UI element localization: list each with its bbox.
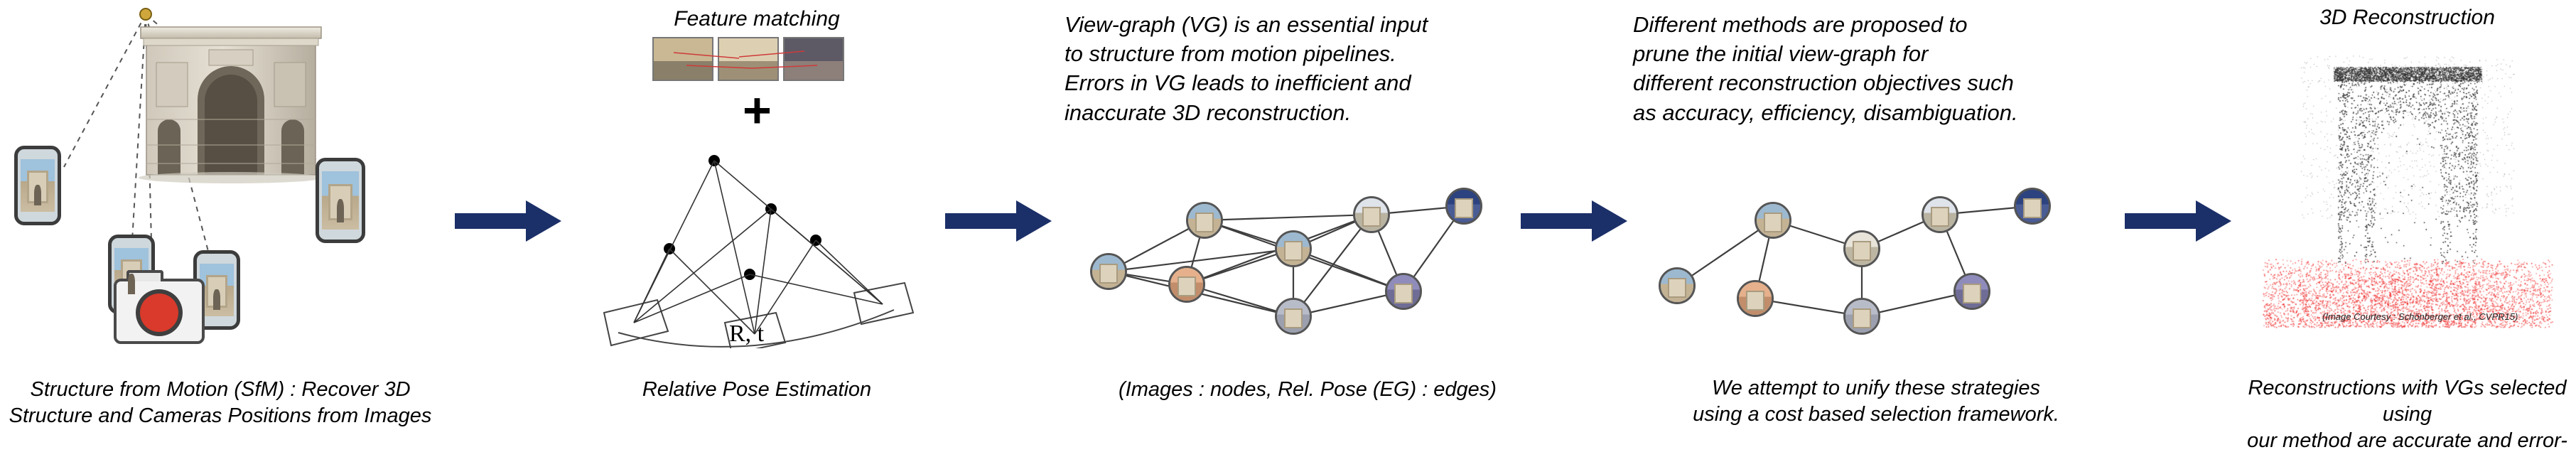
pruned-node-1 bbox=[1659, 267, 1696, 304]
feature-match-lines bbox=[652, 37, 844, 81]
title-feature-matching: Feature matching bbox=[568, 7, 945, 31]
arrow-2 bbox=[945, 193, 1052, 250]
view-graph-node-6 bbox=[1353, 196, 1390, 233]
triumphal-arch-model bbox=[114, 6, 348, 183]
image-courtesy-note: (Image Courtesy : Schönberger et al., CV… bbox=[2322, 311, 2518, 322]
pose-label: R, t bbox=[729, 321, 765, 347]
view-graph-node-3 bbox=[1168, 266, 1205, 303]
plus-symbol: + bbox=[743, 85, 772, 135]
caption-reconstruction: Reconstructions with VGs selected using … bbox=[2238, 375, 2576, 457]
panel-pruned-view-graph: Different methods are proposed to prune … bbox=[1627, 0, 2125, 457]
panel-view-graph: View-graph (VG) is an essential input to… bbox=[1059, 0, 1556, 457]
arrow-4 bbox=[2125, 193, 2231, 250]
dslr-camera-icon bbox=[114, 279, 205, 344]
arrow-3 bbox=[1521, 193, 1627, 250]
pruned-node-5 bbox=[1843, 298, 1880, 335]
phone-photo-icon-1 bbox=[14, 146, 61, 225]
pruned-node-6 bbox=[1922, 196, 1958, 233]
caption-view-graph: (Images : nodes, Rel. Pose (EG) : edges) bbox=[1059, 377, 1556, 403]
phone-photo-icon-4 bbox=[316, 158, 365, 243]
view-graph-node-8 bbox=[1445, 188, 1482, 225]
view-graph-node-5 bbox=[1275, 298, 1312, 335]
blurb-view-graph: View-graph (VG) is an essential input to… bbox=[1065, 10, 1555, 127]
pruned-node-8 bbox=[2014, 188, 2051, 225]
panel-feature-matching: Feature matching + bbox=[568, 0, 945, 457]
caption-pruned-view-graph: We attempt to unify these strategies usi… bbox=[1627, 375, 2125, 428]
arrow-1 bbox=[455, 193, 561, 250]
point-cloud-render bbox=[2238, 27, 2576, 340]
pruned-node-2 bbox=[1755, 202, 1791, 239]
caption-sfm: Structure from Motion (SfM) : Recover 3D… bbox=[0, 377, 441, 429]
view-graph-node-2 bbox=[1186, 202, 1223, 239]
blurb-pruning-methods: Different methods are proposed to prune … bbox=[1633, 10, 2123, 127]
view-graph-node-4 bbox=[1275, 230, 1312, 267]
view-graph-node-7 bbox=[1385, 273, 1422, 310]
pruned-node-4 bbox=[1843, 230, 1880, 267]
relative-pose-diagram: R, t bbox=[590, 135, 924, 348]
pruned-node-3 bbox=[1737, 280, 1774, 317]
caption-relative-pose: Relative Pose Estimation bbox=[568, 377, 945, 403]
panel-structure-from-motion: Structure from Motion (SfM) : Recover 3D… bbox=[0, 0, 441, 457]
figure-canvas: Structure from Motion (SfM) : Recover 3D… bbox=[0, 0, 2576, 457]
title-3d-reconstruction: 3D Reconstruction bbox=[2238, 6, 2576, 30]
panel-3d-reconstruction: 3D Reconstruction (Image Courtesy : Schö… bbox=[2238, 0, 2576, 457]
view-graph-node-1 bbox=[1090, 253, 1127, 290]
pruned-node-7 bbox=[1953, 273, 1990, 310]
